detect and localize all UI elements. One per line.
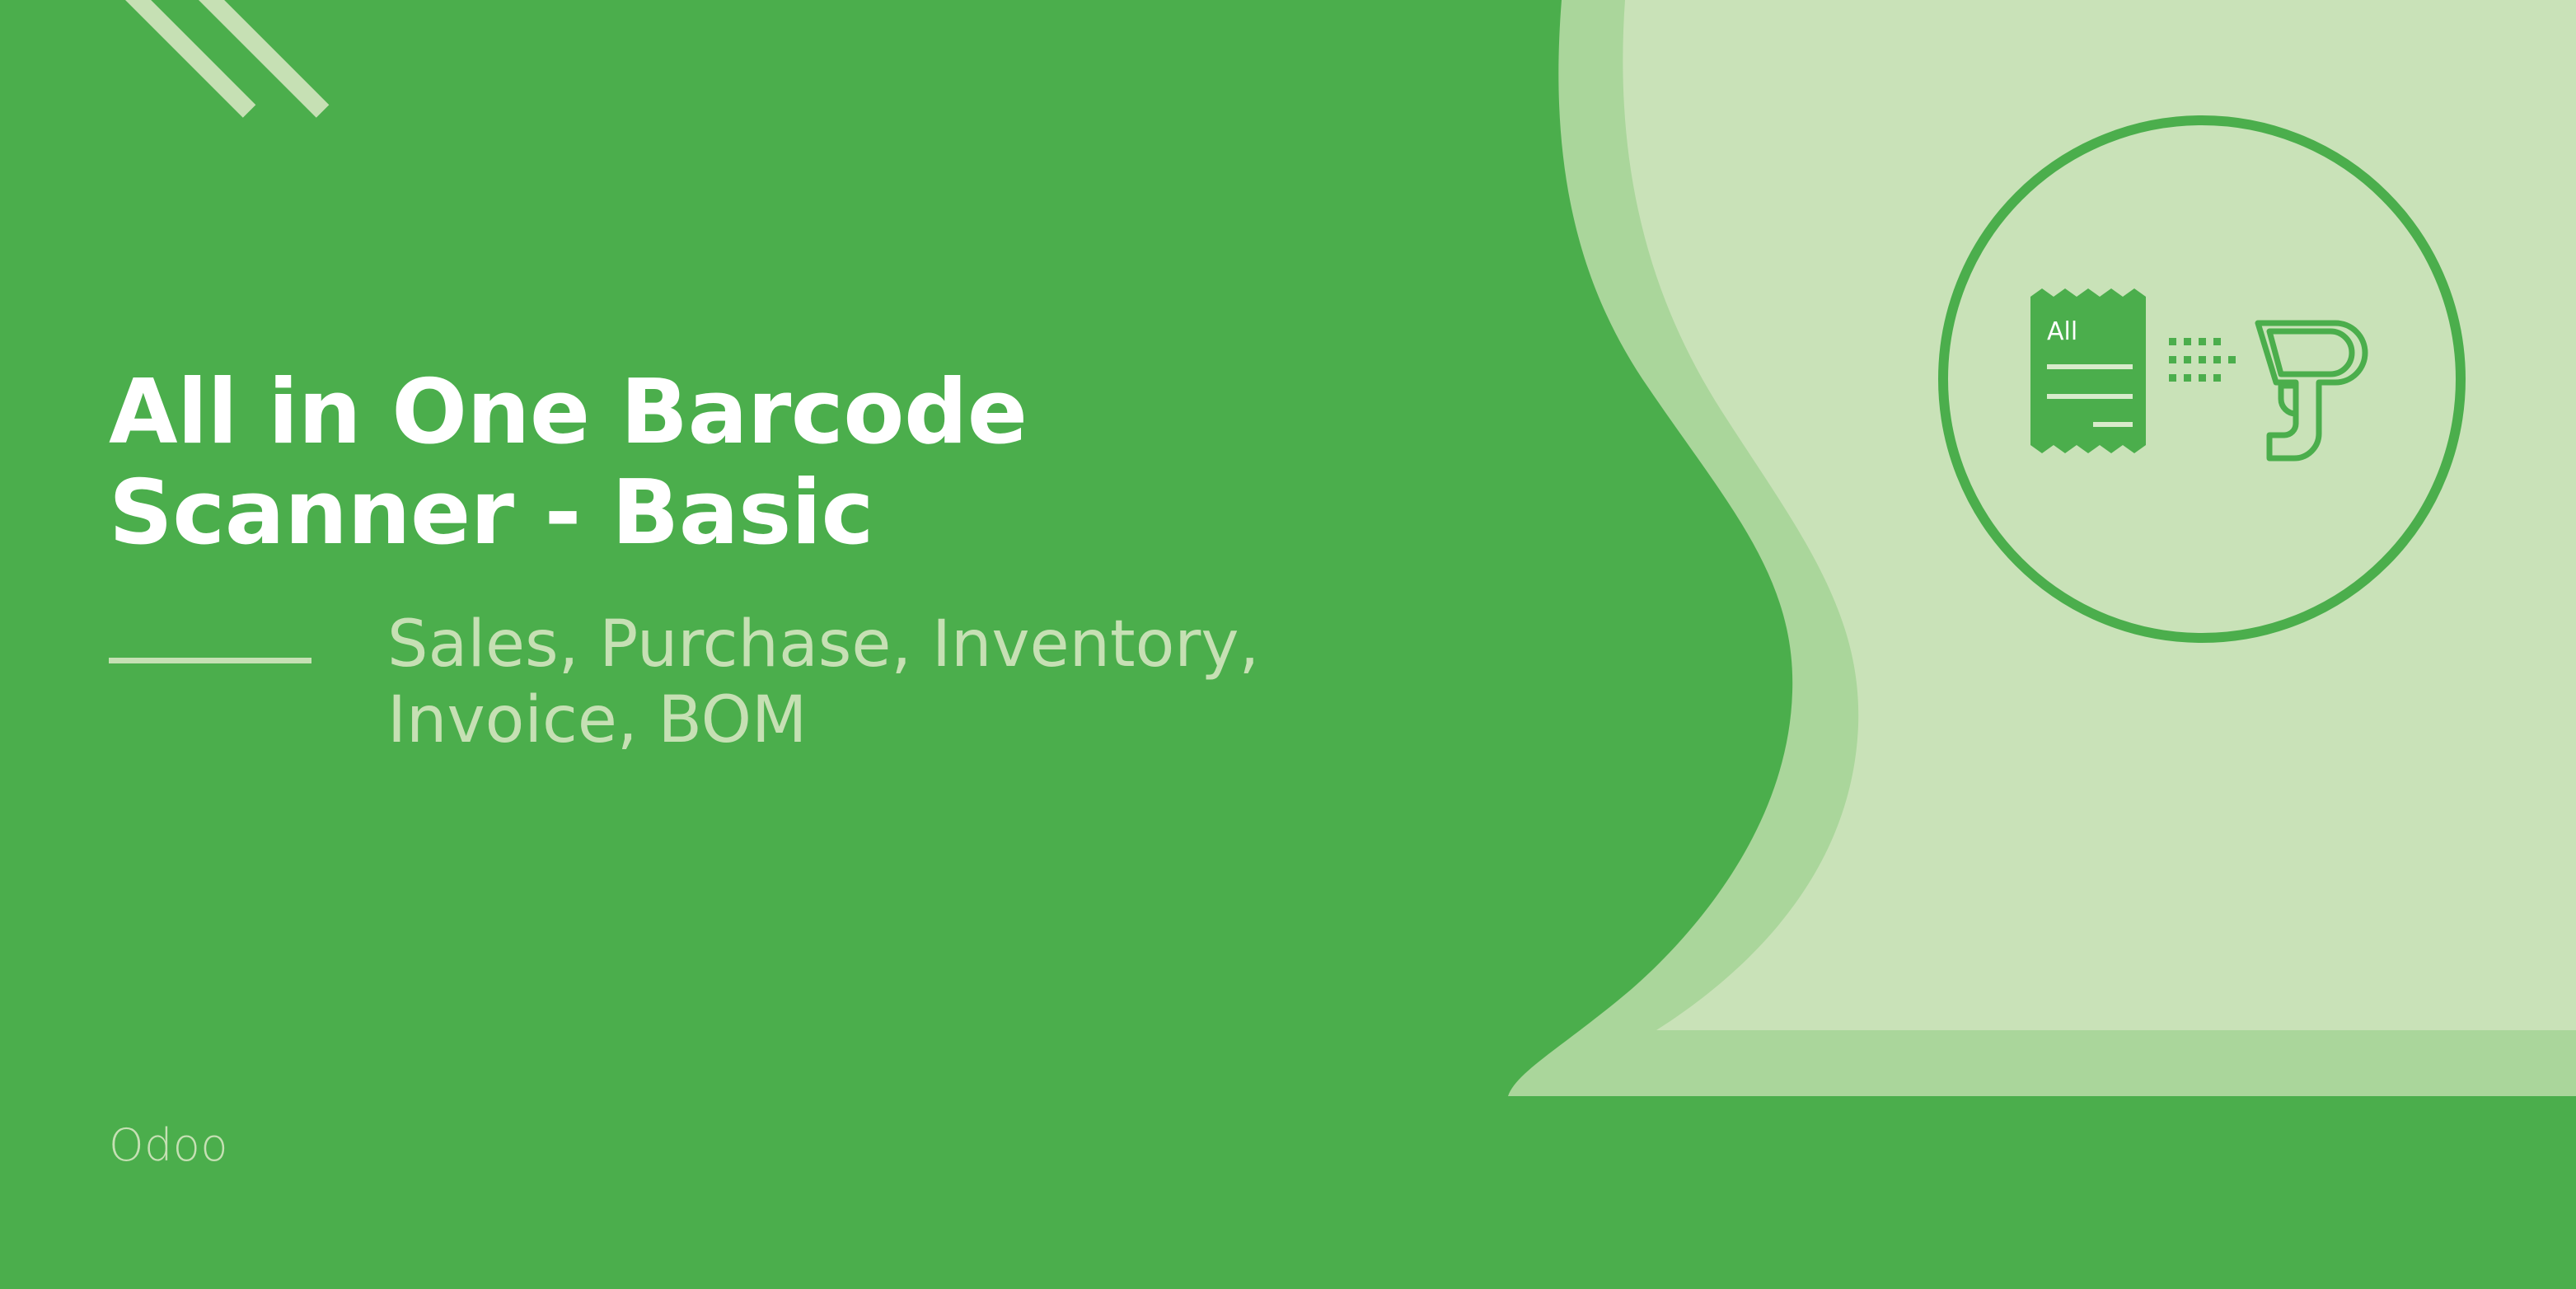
- brand-label: Odoo: [109, 1119, 228, 1171]
- receipt-line-3: [2093, 422, 2133, 427]
- receipt-icon: All: [2030, 288, 2146, 453]
- subtitle-row: Sales, Purchase, Inventory, Invoice, BOM: [109, 607, 1559, 758]
- headline-block: All in One Barcode Scanner - Basic Sales…: [109, 363, 1559, 758]
- page-subtitle: Sales, Purchase, Inventory, Invoice, BOM: [387, 607, 1259, 758]
- receipt-line-1: [2047, 364, 2133, 369]
- page-title: All in One Barcode Scanner - Basic: [109, 363, 1559, 564]
- icon-badge: All: [1938, 115, 2466, 643]
- barcode-scanner-gun-icon: [2258, 323, 2365, 458]
- dotted-scan-beam-icon: [2169, 338, 2236, 382]
- subtitle-dash-rule: [109, 658, 311, 663]
- barcode-scanner-illustration: All: [2029, 288, 2375, 470]
- receipt-label: All: [2047, 317, 2077, 346]
- receipt-line-2: [2047, 394, 2133, 399]
- banner-root: All in One Barcode Scanner - Basic Sales…: [0, 0, 2576, 1289]
